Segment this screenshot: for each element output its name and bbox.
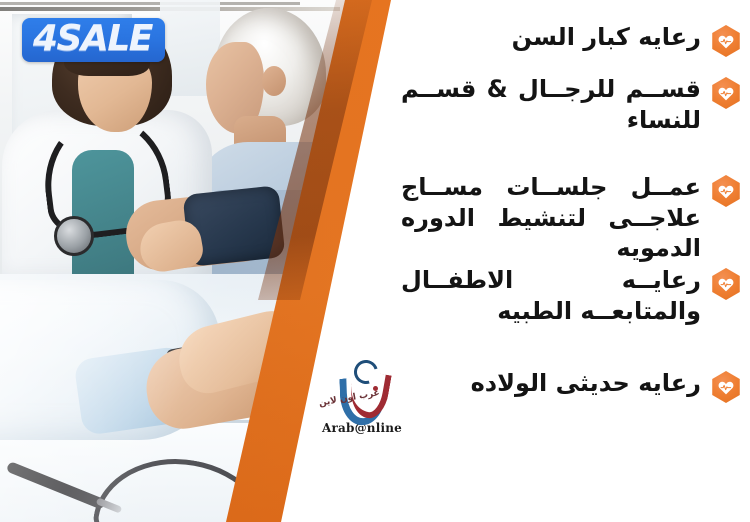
service-poster: 4SALE رعايه كبار السن قســم للرجــال & ق… (0, 0, 750, 522)
service-item-men-women-wards: قســم للرجــال & قســم للنساء (401, 74, 742, 135)
service-item-elderly-care: رعايه كبار السن (401, 22, 742, 57)
window-rail-upper (0, 2, 300, 5)
heart-pulse-hexagon-icon (710, 25, 742, 57)
service-label: رعايه كبار السن (401, 22, 701, 53)
stethoscope-chestpiece (54, 216, 94, 256)
elderly-man-ear (262, 66, 286, 96)
heart-pulse-hexagon-icon (710, 268, 742, 300)
brand-logo-text: 4SALE (33, 21, 152, 57)
service-label: قســم للرجــال & قســم للنساء (401, 74, 701, 135)
service-item-child-care: رعايــه الاطفــال والمتابعــه الطبيه (401, 265, 742, 326)
arabonline-mark-icon: عرب اون لاين (332, 360, 388, 420)
service-item-newborn-care: رعايه حديثى الولاده (401, 368, 742, 403)
watermark-logo-arabonline: عرب اون لاين Arab@nline (322, 360, 398, 442)
heart-pulse-hexagon-icon (710, 371, 742, 403)
service-item-therapeutic-massage: عمــل جلســات مســاج علاجــى لتنشيط الدو… (401, 172, 742, 264)
service-label: رعايــه الاطفــال والمتابعــه الطبيه (401, 265, 701, 326)
service-label: عمــل جلســات مســاج علاجــى لتنشيط الدو… (401, 172, 701, 264)
brand-logo-4sale[interactable]: 4SALE (22, 18, 165, 62)
services-list: رعايه كبار السن قســم للرجــال & قســم ل… (392, 0, 750, 440)
heart-pulse-hexagon-icon (710, 175, 742, 207)
service-label: رعايه حديثى الولاده (401, 368, 701, 399)
heart-pulse-hexagon-icon (710, 77, 742, 109)
